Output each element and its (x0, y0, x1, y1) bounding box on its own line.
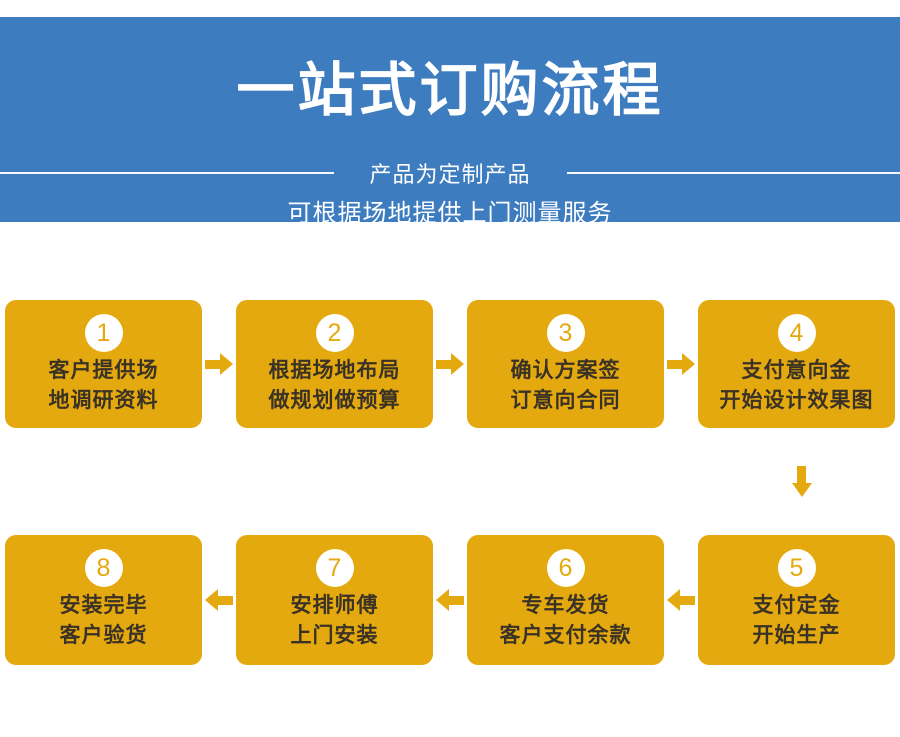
step-label-line2: 做规划做预算 (269, 386, 401, 416)
step-box[interactable]: 5 支付定金 开始生产 (698, 535, 895, 665)
subtitle-row: 产品为定制产品 (0, 155, 900, 191)
arrow-shaft (436, 360, 452, 369)
step-label-line1: 支付意向金 (720, 356, 874, 386)
step-label: 客户提供场 地调研资料 (49, 356, 159, 416)
arrow-head (220, 353, 233, 375)
divider-line-right (567, 172, 900, 174)
step-label-line2: 上门安装 (291, 621, 379, 651)
arrow-left-icon (434, 589, 466, 611)
step-number-badge: 4 (778, 314, 816, 352)
arrow-shaft (667, 360, 683, 369)
step-label-line2: 地调研资料 (49, 386, 159, 416)
step-number-badge: 7 (316, 549, 354, 587)
arrow-down-icon (792, 466, 812, 500)
step-label-line2: 开始设计效果图 (720, 386, 874, 416)
step-box[interactable]: 1 客户提供场 地调研资料 (5, 300, 202, 428)
step-box[interactable]: 7 安排师傅 上门安装 (236, 535, 433, 665)
step-label-line1: 确认方案签 (511, 356, 621, 386)
arrow-left-icon (203, 589, 235, 611)
step-label-line1: 安装完毕 (60, 591, 148, 621)
arrow-head (205, 589, 218, 611)
arrow-shaft (217, 596, 233, 605)
arrow-head (792, 483, 812, 497)
step-number-badge: 1 (85, 314, 123, 352)
step-number-badge: 6 (547, 549, 585, 587)
step-label: 安装完毕 客户验货 (60, 591, 148, 651)
step-label: 安排师傅 上门安装 (291, 591, 379, 651)
step-label: 根据场地布局 做规划做预算 (269, 356, 401, 416)
step-box[interactable]: 6 专车发货 客户支付余款 (467, 535, 664, 665)
step-number-badge: 5 (778, 549, 816, 587)
step-label-line1: 安排师傅 (291, 591, 379, 621)
step-number-badge: 3 (547, 314, 585, 352)
arrow-right-icon (434, 353, 466, 375)
step-label-line2: 客户验货 (60, 621, 148, 651)
header-banner: 一站式订购流程 产品为定制产品 可根据场地提供上门测量服务 (0, 17, 900, 222)
arrow-shaft (797, 466, 806, 484)
divider-line-left (0, 172, 334, 174)
arrow-head (682, 353, 695, 375)
arrow-shaft (679, 596, 695, 605)
step-label: 支付定金 开始生产 (753, 591, 841, 651)
step-label-line1: 专车发货 (500, 591, 632, 621)
step-number-badge: 8 (85, 549, 123, 587)
step-label: 确认方案签 订意向合同 (511, 356, 621, 416)
step-label-line2: 开始生产 (753, 621, 841, 651)
flow-row-bottom: 8 安装完毕 客户验货 7 安排师傅 上门安装 6 专车发货 客户支付余款 5 (0, 535, 900, 665)
arrow-shaft (205, 360, 221, 369)
arrow-head (451, 353, 464, 375)
step-label-line1: 根据场地布局 (269, 356, 401, 386)
step-label-line2: 客户支付余款 (500, 621, 632, 651)
step-label-line2: 订意向合同 (511, 386, 621, 416)
arrow-head (436, 589, 449, 611)
arrow-head (667, 589, 680, 611)
step-label-line1: 客户提供场 (49, 356, 159, 386)
arrow-left-icon (665, 589, 697, 611)
arrow-shaft (448, 596, 464, 605)
arrow-right-icon (203, 353, 235, 375)
step-label-line1: 支付定金 (753, 591, 841, 621)
subtitle-primary: 产品为定制产品 (370, 157, 531, 189)
step-number-badge: 2 (316, 314, 354, 352)
flow-row-top: 1 客户提供场 地调研资料 2 根据场地布局 做规划做预算 3 确认方案签 订意… (0, 300, 900, 428)
step-box[interactable]: 3 确认方案签 订意向合同 (467, 300, 664, 428)
step-label: 支付意向金 开始设计效果图 (720, 356, 874, 416)
step-box[interactable]: 8 安装完毕 客户验货 (5, 535, 202, 665)
subtitle-secondary: 可根据场地提供上门测量服务 (0, 193, 900, 222)
arrow-right-icon (665, 353, 697, 375)
page-title: 一站式订购流程 (0, 59, 900, 123)
step-label: 专车发货 客户支付余款 (500, 591, 632, 651)
step-box[interactable]: 2 根据场地布局 做规划做预算 (236, 300, 433, 428)
step-box[interactable]: 4 支付意向金 开始设计效果图 (698, 300, 895, 428)
